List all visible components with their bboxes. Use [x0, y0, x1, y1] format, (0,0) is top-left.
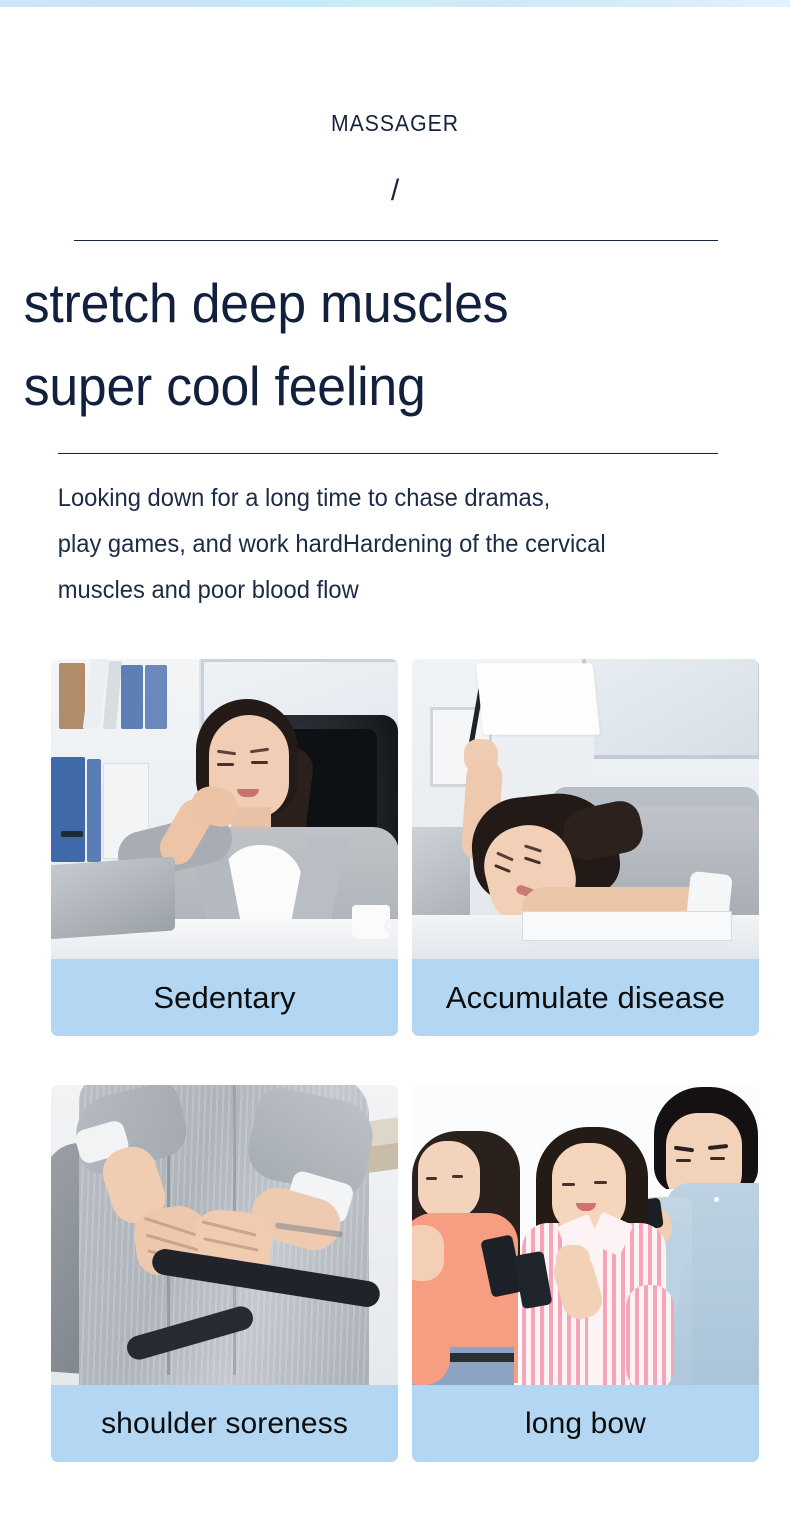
- divider-bottom: [58, 453, 718, 454]
- card-photo-accumulate-disease: [412, 659, 759, 959]
- symptom-card-accumulate-disease[interactable]: Accumulate disease: [412, 659, 759, 1036]
- card-caption-accumulate-disease: Accumulate disease: [412, 959, 759, 1036]
- scene-three-people-phones: [412, 1085, 759, 1385]
- card-photo-long-bow: [412, 1085, 759, 1385]
- symptom-card-sedentary[interactable]: Sedentary: [51, 659, 398, 1036]
- scene-slumped-white-flag: [412, 659, 759, 959]
- top-gradient-strip: [0, 0, 790, 7]
- headline-line-1: stretch deep muscles: [24, 262, 767, 345]
- headline-line-2: super cool feeling: [24, 345, 767, 428]
- scene-office-neck-pain: [51, 659, 398, 959]
- symptom-card-long-bow[interactable]: long bow: [412, 1085, 759, 1462]
- scene-lower-back-pain: [51, 1085, 398, 1385]
- card-photo-sedentary: [51, 659, 398, 959]
- card-caption-sedentary: Sedentary: [51, 959, 398, 1036]
- eyebrow-label: MASSAGER: [32, 110, 759, 137]
- product-detail-page: MASSAGER / stretch deep muscles super co…: [0, 0, 790, 1536]
- subtitle-line-1: Looking down for a long time to chase dr…: [58, 475, 733, 521]
- page-title: stretch deep muscles super cool feeling: [24, 262, 767, 427]
- symptom-card-shoulder-soreness[interactable]: shoulder soreness: [51, 1085, 398, 1462]
- slash-separator: /: [0, 174, 790, 208]
- card-caption-shoulder-soreness: shoulder soreness: [51, 1385, 398, 1462]
- page-subtitle: Looking down for a long time to chase dr…: [58, 475, 733, 613]
- card-caption-long-bow: long bow: [412, 1385, 759, 1462]
- subtitle-line-2: play games, and work hardHardening of th…: [58, 521, 733, 567]
- divider-top: [74, 240, 718, 241]
- card-photo-shoulder-soreness: [51, 1085, 398, 1385]
- subtitle-line-3: muscles and poor blood flow: [58, 567, 733, 613]
